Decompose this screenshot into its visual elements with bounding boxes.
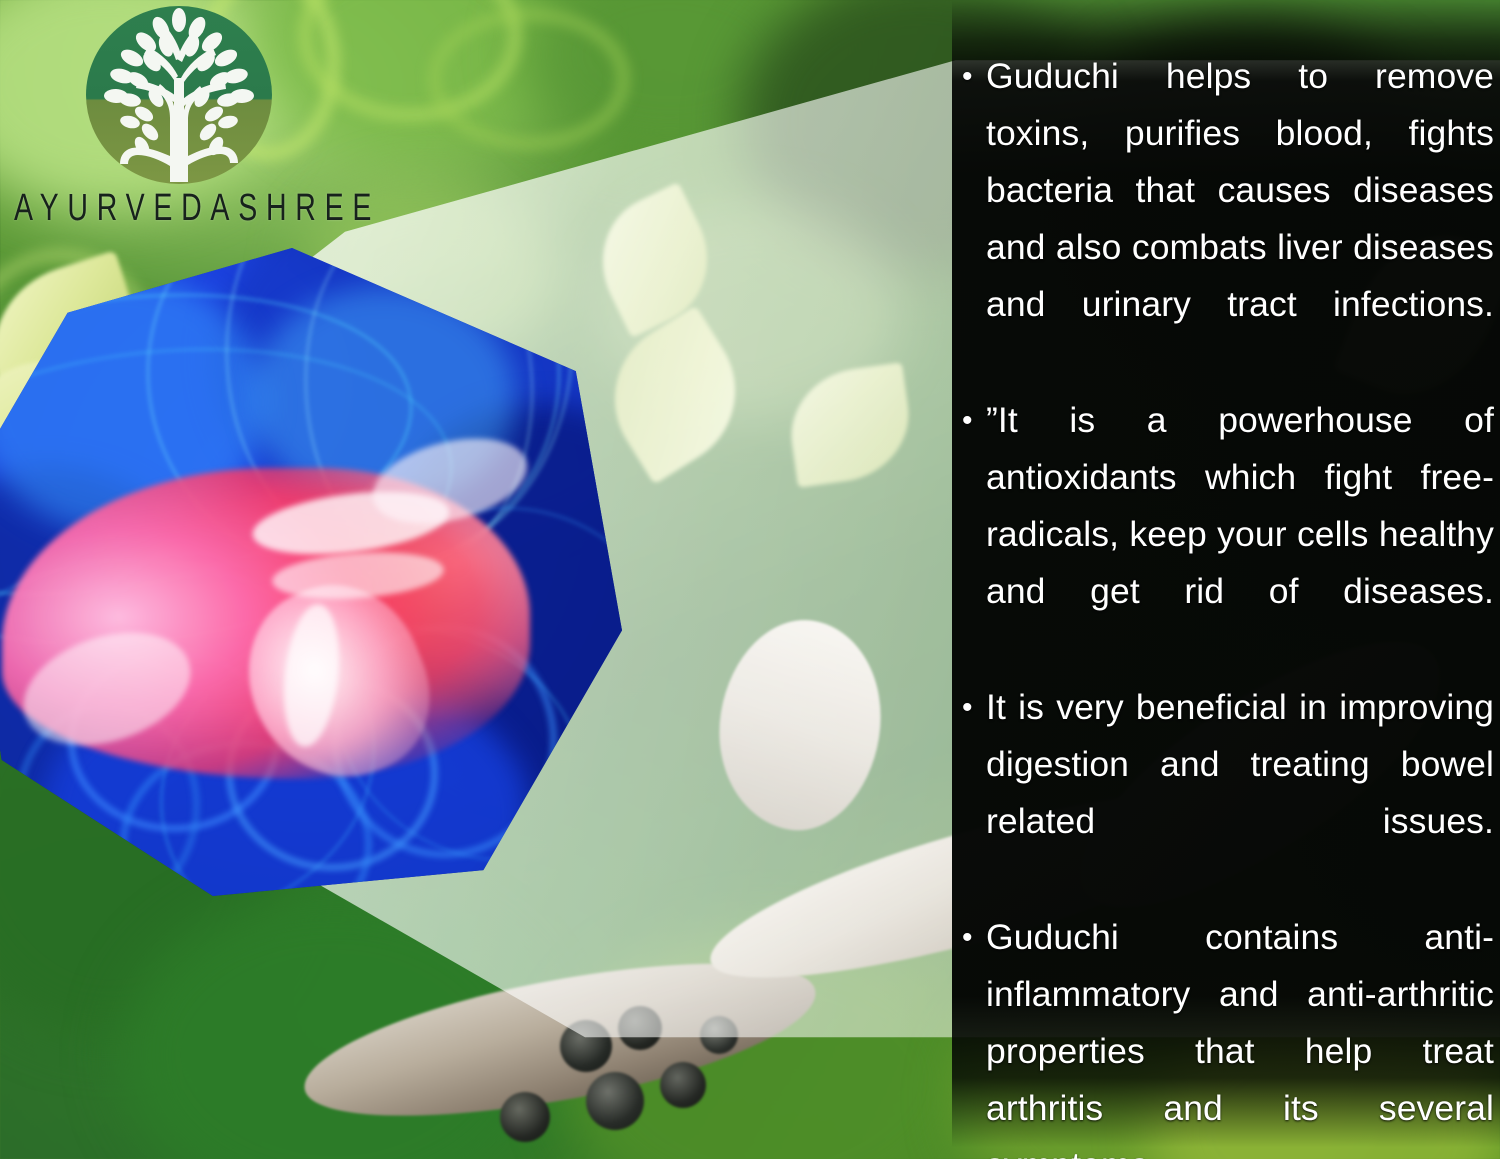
- brand-logo: [86, 6, 272, 184]
- benefits-panel: Guduchi helps to remove toxins, purifies…: [952, 0, 1500, 1159]
- logo-circle-badge: [86, 6, 272, 184]
- benefit-bullet-4: Guduchi contains anti-inflammatory and a…: [956, 909, 1494, 1159]
- product-infographic: AYURVEDASHREE Guduchi helps to remove to…: [0, 0, 1500, 1159]
- benefit-text-3: It is very beneficial in improving diges…: [986, 687, 1494, 841]
- benefit-text-1: Guduchi helps to remove toxins, purifies…: [986, 56, 1494, 324]
- benefit-bullet-3: It is very beneficial in improving diges…: [956, 679, 1494, 907]
- benefit-bullet-2: ”It is a powerhouse of antioxidants whic…: [956, 392, 1494, 677]
- tree-icon: [86, 6, 272, 184]
- benefits-list: Guduchi helps to remove toxins, purifies…: [956, 48, 1494, 1159]
- brand-wordmark: AYURVEDASHREE: [14, 186, 380, 230]
- benefit-bullet-1: Guduchi helps to remove toxins, purifies…: [956, 48, 1494, 390]
- benefit-text-2: ”It is a powerhouse of antioxidants whic…: [986, 400, 1494, 611]
- benefit-text-4: Guduchi contains anti-inflammatory and a…: [986, 917, 1494, 1159]
